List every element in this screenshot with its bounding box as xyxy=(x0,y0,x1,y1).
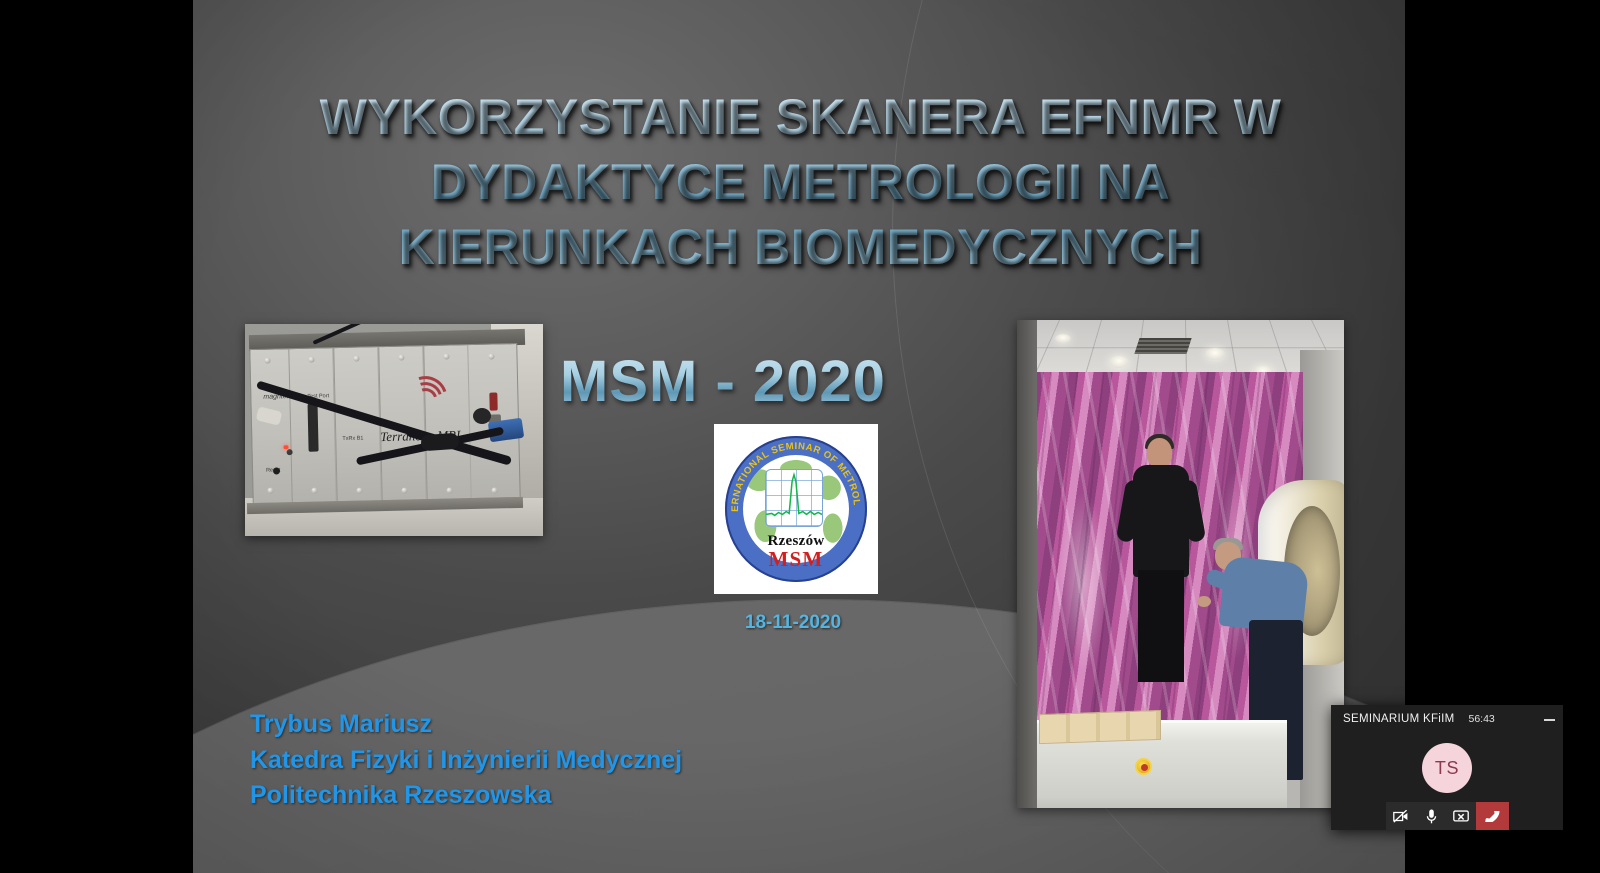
photo-terranova-mri-rack: magritek Test Port TxRx B1 Reset Terrano… xyxy=(245,324,543,536)
video-call-title: SEMINARIUM KFiIM xyxy=(1343,713,1455,725)
screen: WYKORZYSTANIE SKANERA EFNMR W DYDAKTYCE … xyxy=(0,0,1600,873)
screen-share-off-icon[interactable] xyxy=(1446,802,1476,830)
logo-acronym-label: MSM xyxy=(714,547,878,572)
microphone-icon[interactable] xyxy=(1416,802,1446,830)
slide-title: WYKORZYSTANIE SKANERA EFNMR W DYDAKTYCE … xyxy=(253,85,1348,280)
video-call-header: SEMINARIUM KFiIM 56:43 xyxy=(1331,705,1563,733)
slide-title-line-3: KIERUNKACH BIOMEDYCZNYCH xyxy=(253,215,1348,280)
room-left-wall xyxy=(1017,320,1037,808)
video-call-controls xyxy=(1386,802,1509,830)
author-department: Katedra Fizyki i Inżynierii Medycznej xyxy=(250,743,682,779)
msm-conference-logo: INTERNATIONAL SEMINAR OF METROLOGY Rzesz… xyxy=(714,424,878,594)
hangup-icon[interactable] xyxy=(1476,802,1509,830)
minimize-icon[interactable] xyxy=(1544,713,1555,725)
emergency-stop-button xyxy=(1135,758,1152,775)
video-call-panel[interactable]: SEMINARIUM KFiIM 56:43 TS xyxy=(1331,705,1563,830)
author-institution: Politechnika Rzeszowska xyxy=(250,778,682,814)
slide-title-line-1: WYKORZYSTANIE SKANERA EFNMR W xyxy=(253,85,1348,150)
ceiling-light xyxy=(1109,356,1129,368)
avatar: TS xyxy=(1422,743,1472,793)
slide-date: 18-11-2020 xyxy=(633,612,953,634)
camera-off-icon[interactable] xyxy=(1386,802,1416,830)
avatar-initials: TS xyxy=(1435,758,1459,779)
slide-title-line-2: DYDAKTYCE METROLOGII NA xyxy=(253,150,1348,215)
ceiling-light xyxy=(1055,334,1071,343)
rack-port-label-txrx: TxRx B1 xyxy=(342,435,363,441)
presentation-slide[interactable]: WYKORZYSTANIE SKANERA EFNMR W DYDAKTYCE … xyxy=(193,0,1405,873)
ceiling-vent xyxy=(1134,338,1191,354)
video-call-timer: 56:43 xyxy=(1469,713,1495,725)
author-block: Trybus Mariusz Katedra Fizyki i Inżynier… xyxy=(250,707,682,814)
ceiling-light xyxy=(1205,348,1225,360)
logo-spectrum-screen xyxy=(765,469,823,527)
mri-table-pads xyxy=(1039,710,1161,744)
photo-mri-scanner-room xyxy=(1017,320,1344,808)
author-name: Trybus Mariusz xyxy=(250,707,682,743)
